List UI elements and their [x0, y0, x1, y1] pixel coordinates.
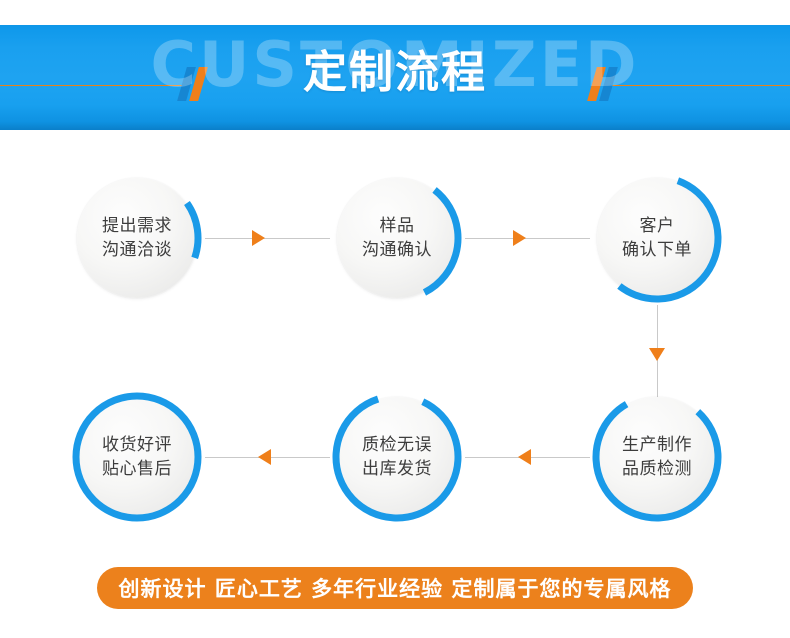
page-header: CUSTOMIZED 定制流程 — [0, 25, 790, 130]
process-node-3[interactable]: 客户 确认下单 — [589, 170, 725, 306]
node-label-line1: 样品 — [380, 214, 415, 238]
node-label: 提出需求 沟通洽谈 — [77, 178, 197, 298]
arrow-step3-to-step4 — [649, 348, 665, 361]
connector-line-2-3 — [465, 238, 590, 239]
node-label-line2: 沟通洽谈 — [102, 238, 172, 262]
process-flow-diagram: 提出需求 沟通洽谈 样品 沟通确认 客户 确认下单 生产制作 品 — [0, 130, 790, 560]
node-label-line2: 品质检测 — [622, 457, 692, 481]
node-label-line2: 沟通确认 — [362, 238, 432, 262]
footer-banner: 创新设计 匠心工艺 多年行业经验 定制属于您的专属风格 — [97, 567, 693, 609]
node-label-line1: 收货好评 — [102, 433, 172, 457]
node-label-line1: 提出需求 — [102, 214, 172, 238]
node-label-line2: 确认下单 — [622, 238, 692, 262]
process-node-1[interactable]: 提出需求 沟通洽谈 — [69, 170, 205, 306]
node-label-line2: 出库发货 — [362, 457, 432, 481]
node-label: 生产制作 品质检测 — [597, 397, 717, 517]
connector-line-1-2 — [205, 238, 330, 239]
process-node-6[interactable]: 收货好评 贴心售后 — [69, 389, 205, 525]
node-label-line1: 质检无误 — [362, 433, 432, 457]
process-node-2[interactable]: 样品 沟通确认 — [329, 170, 465, 306]
header-inner: CUSTOMIZED 定制流程 — [0, 25, 790, 130]
node-label: 客户 确认下单 — [597, 178, 717, 298]
page-title: 定制流程 — [0, 47, 790, 100]
node-label: 收货好评 贴心售后 — [77, 397, 197, 517]
arrow-step5-to-step6 — [258, 449, 271, 465]
arrow-step1-to-step2 — [252, 230, 265, 246]
arrow-step4-to-step5 — [518, 449, 531, 465]
arrow-step2-to-step3 — [513, 230, 526, 246]
node-label-line2: 贴心售后 — [102, 457, 172, 481]
process-node-4[interactable]: 生产制作 品质检测 — [589, 389, 725, 525]
node-label: 样品 沟通确认 — [337, 178, 457, 298]
node-label: 质检无误 出库发货 — [337, 397, 457, 517]
footer-banner-text: 创新设计 匠心工艺 多年行业经验 定制属于您的专属风格 — [119, 573, 672, 603]
node-label-line1: 生产制作 — [622, 433, 692, 457]
process-node-5[interactable]: 质检无误 出库发货 — [329, 389, 465, 525]
node-label-line1: 客户 — [640, 214, 675, 238]
